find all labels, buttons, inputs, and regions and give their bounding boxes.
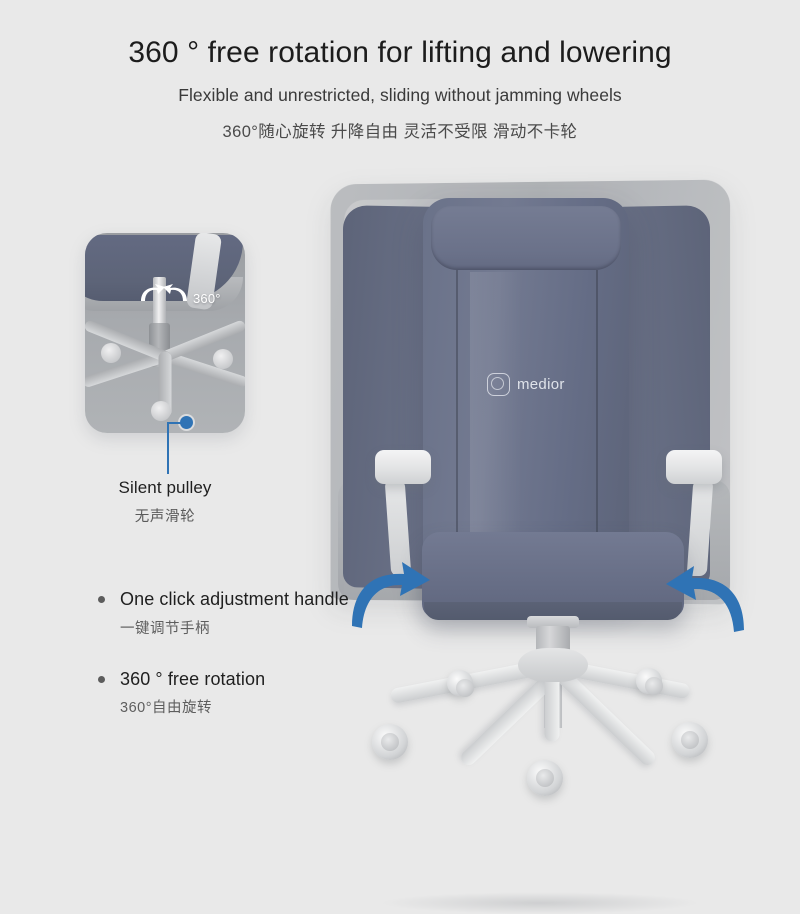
inset-caption-english: Silent pulley <box>85 478 245 498</box>
feature-label-english: 360 ° free rotation <box>120 668 396 691</box>
feature-label-chinese: 360°自由旋转 <box>120 696 396 717</box>
inset-caster-wheel <box>213 349 233 369</box>
leader-line-vertical <box>167 422 169 474</box>
caster-wheel <box>447 670 473 696</box>
base-center-hub <box>518 648 588 682</box>
rotation-degree-label: 360° <box>193 291 221 306</box>
caster-wheel <box>527 760 563 796</box>
subtitle-chinese: 360°随心旋转 升降自由 灵活不受限 滑动不卡轮 <box>0 118 800 142</box>
circular-rotation-arrows-icon <box>137 281 191 315</box>
header: 360 ° free rotation for lifting and lowe… <box>0 36 800 142</box>
list-item: One click adjustment handle 一键调节手柄 <box>96 588 396 638</box>
leader-line-horizontal <box>167 422 187 424</box>
inset-caster-wheel <box>101 343 121 363</box>
feature-label-english: One click adjustment handle <box>120 588 396 611</box>
list-item: 360 ° free rotation 360°自由旋转 <box>96 668 396 718</box>
inset-caster-wheel <box>151 401 171 421</box>
brand-name-label: medior <box>517 376 565 393</box>
armrest-pad-left <box>375 450 431 484</box>
inset-caption-chinese: 无声滑轮 <box>85 505 245 526</box>
armrest-pad-right <box>666 450 722 484</box>
subtitle-english: Flexible and unrestricted, sliding witho… <box>0 85 800 106</box>
bullet-dot-icon <box>98 596 105 603</box>
brand-logo: medior <box>487 373 565 396</box>
circular-emblem-icon <box>487 373 510 396</box>
bullet-dot-icon <box>98 676 105 683</box>
feature-list: One click adjustment handle 一键调节手柄 360 °… <box>96 588 396 717</box>
floor-shadow <box>380 892 700 914</box>
caster-wheel <box>672 722 708 758</box>
curved-rotation-arrow-left-icon <box>664 564 750 640</box>
detail-inset-base: 360° <box>85 233 245 433</box>
product-marketing-page: 360 ° free rotation for lifting and lowe… <box>0 0 800 800</box>
inset-caption: Silent pulley 无声滑轮 <box>85 478 245 526</box>
page-title: 360 ° free rotation for lifting and lowe… <box>0 36 800 71</box>
caster-wheel <box>636 668 662 694</box>
caster-wheel <box>372 724 408 760</box>
backrest-headrest-band <box>431 206 621 270</box>
feature-label-chinese: 一键调节手柄 <box>120 617 396 638</box>
callout-leader-line <box>167 422 187 474</box>
